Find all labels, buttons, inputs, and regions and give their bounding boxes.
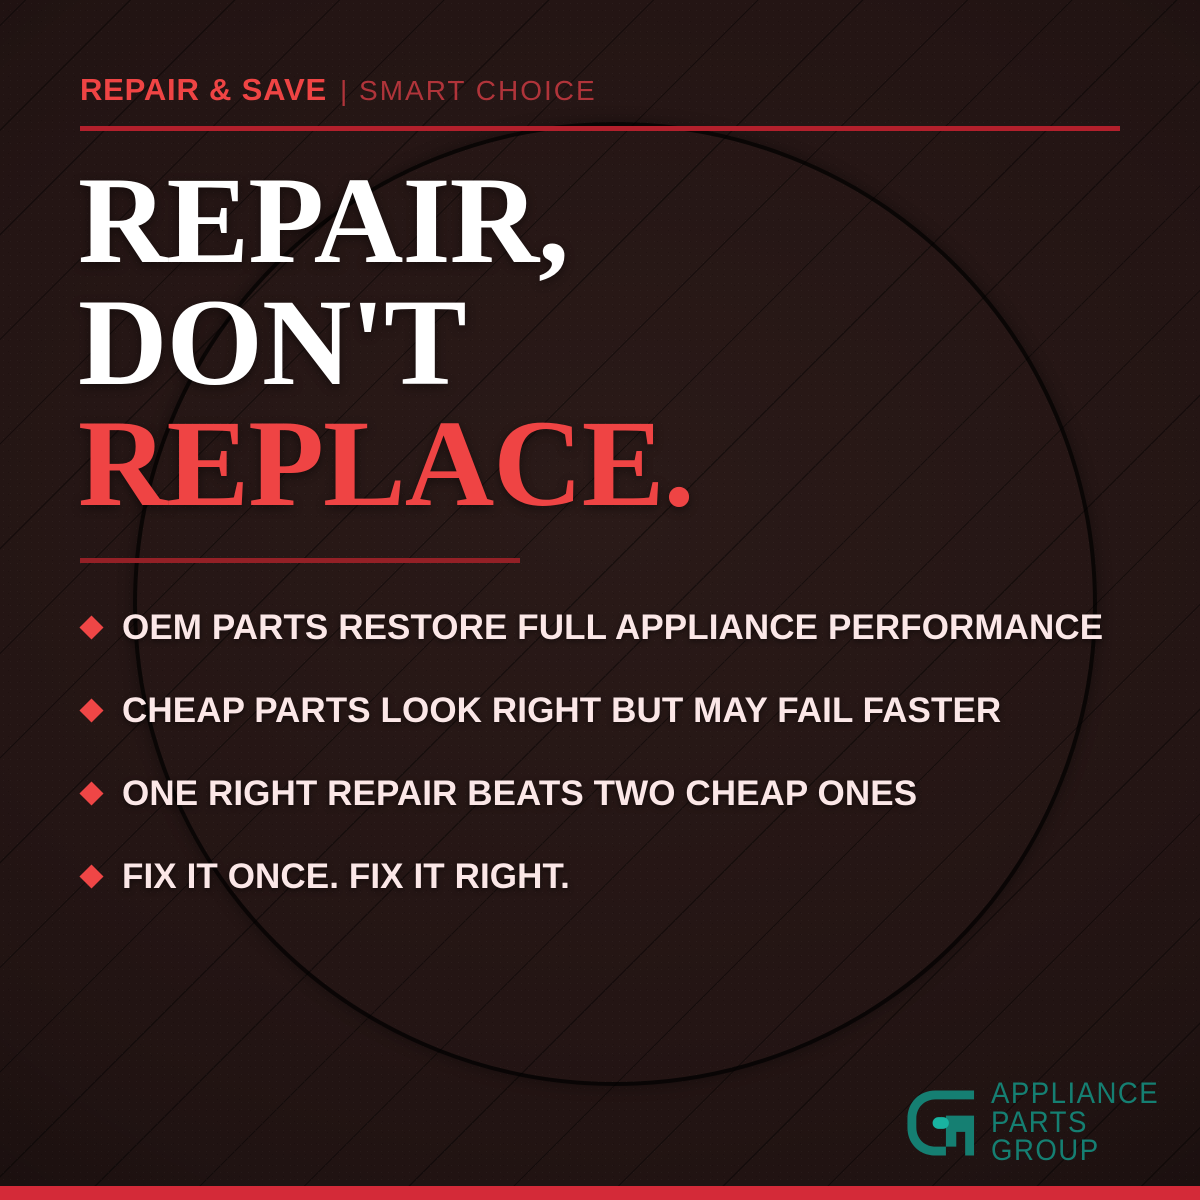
eyebrow-sub-text: | SMART CHOICE [340, 75, 597, 106]
diamond-bullet-icon [79, 864, 103, 888]
headline-divider-rule [80, 558, 520, 563]
diamond-bullet-icon [79, 781, 103, 805]
poster-canvas: REPAIR & SAVE| SMART CHOICE REPAIR, DON'… [0, 0, 1200, 1200]
diamond-bullet-icon [79, 615, 103, 639]
list-item: ONE RIGHT REPAIR BEATS TWO CHEAP ONES [80, 752, 1150, 835]
list-item-label: OEM PARTS RESTORE FULL APPLIANCE PERFORM… [122, 608, 1103, 648]
eyebrow: REPAIR & SAVE| SMART CHOICE [80, 74, 597, 105]
header-divider-rule [80, 126, 1120, 131]
page-title: REPAIR, DON'T REPLACE. [78, 160, 1138, 525]
eyebrow-strong-text: REPAIR & SAVE [80, 72, 327, 107]
headline-line-1: REPAIR, [78, 160, 1138, 282]
brand-logo-line-3: GROUP [991, 1137, 1159, 1165]
benefit-list: OEM PARTS RESTORE FULL APPLIANCE PERFORM… [80, 586, 1150, 918]
headline-line-3: REPLACE. [78, 403, 1138, 525]
brand-logo-line-2: PARTS [991, 1109, 1159, 1137]
brand-logo-line-1: APPLIANCE [991, 1080, 1159, 1108]
list-item: OEM PARTS RESTORE FULL APPLIANCE PERFORM… [80, 586, 1150, 669]
poster-content: REPAIR & SAVE| SMART CHOICE REPAIR, DON'… [0, 0, 1200, 1200]
list-item-label: ONE RIGHT REPAIR BEATS TWO CHEAP ONES [122, 774, 917, 814]
list-item-label: CHEAP PARTS LOOK RIGHT BUT MAY FAIL FAST… [122, 691, 1001, 731]
list-item: FIX IT ONCE. FIX IT RIGHT. [80, 835, 1150, 918]
g-monogram-icon [903, 1086, 977, 1160]
bottom-accent-bar [0, 1186, 1200, 1200]
list-item: CHEAP PARTS LOOK RIGHT BUT MAY FAIL FAST… [80, 669, 1150, 752]
brand-logo: APPLIANCE PARTS GROUP [903, 1080, 1174, 1165]
brand-logo-wordmark: APPLIANCE PARTS GROUP [991, 1080, 1174, 1165]
list-item-label: FIX IT ONCE. FIX IT RIGHT. [122, 857, 570, 897]
headline-line-2: DON'T [78, 282, 1138, 404]
diamond-bullet-icon [79, 698, 103, 722]
